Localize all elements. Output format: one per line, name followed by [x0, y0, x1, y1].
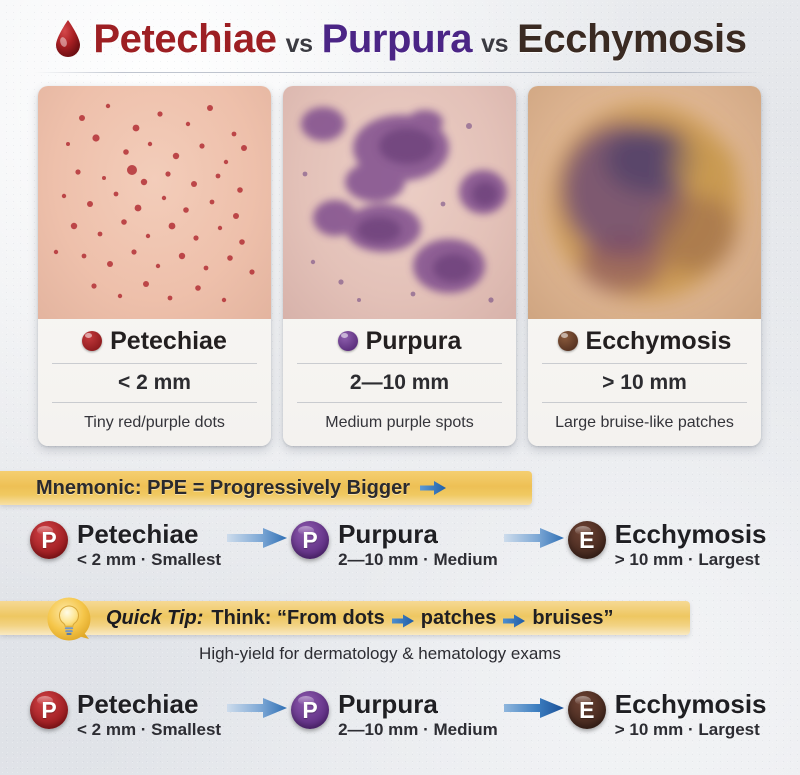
card-ecchymosis[interactable]: Ecchymosis > 10 mm Large bruise-like pat… — [528, 86, 761, 446]
brown-dot-icon — [558, 331, 578, 351]
flow-title: Petechiae — [77, 521, 221, 548]
card-title-row: Petechiae — [46, 319, 263, 363]
ecchymosis-skin-photo — [528, 86, 761, 319]
title-petechiae: Petechiae — [93, 17, 276, 61]
flow-sub: < 2 mm · Smallest — [77, 721, 221, 739]
flow-row-top: P Petechiae < 2 mm · Smallest P Purpura … — [0, 516, 800, 574]
quick-tip-mid: patches — [421, 607, 497, 630]
card-desc-label: Medium purple spots — [291, 403, 508, 443]
quick-tip-label: Quick Tip: — [106, 607, 203, 630]
flow-sub: < 2 mm · Smallest — [77, 551, 221, 569]
flow-node-ecchymosis[interactable]: E Ecchymosis > 10 mm · Largest — [568, 521, 767, 568]
quick-tip-banner: Quick Tip: Think: “From dots patches bru… — [0, 601, 690, 635]
badge-p-icon: P — [291, 521, 329, 559]
flow-title: Ecchymosis — [615, 521, 767, 548]
red-dot-icon — [82, 331, 102, 351]
quick-tip-lead: Think: “From dots — [211, 607, 384, 630]
card-desc-label: Tiny red/purple dots — [46, 403, 263, 443]
badge-p-icon: P — [291, 691, 329, 729]
flow-sub: > 10 mm · Largest — [615, 721, 767, 739]
card-title-row: Purpura — [291, 319, 508, 363]
flow-node-ecchymosis[interactable]: E Ecchymosis > 10 mm · Largest — [568, 691, 767, 738]
card-purpura[interactable]: Purpura 2—10 mm Medium purple spots — [283, 86, 516, 446]
right-arrow-icon — [392, 611, 414, 625]
badge-p-icon: P — [30, 521, 68, 559]
flow-node-purpura[interactable]: P Purpura 2—10 mm · Medium — [291, 521, 498, 568]
blood-drop-icon — [53, 19, 83, 59]
title-divider — [34, 72, 766, 73]
card-desc-label: Large bruise-like patches — [536, 403, 753, 443]
card-name-label: Petechiae — [110, 327, 227, 356]
flow-row-bottom: P Petechiae < 2 mm · Smallest P Purpura … — [0, 686, 800, 744]
card-size-label: 2—10 mm — [291, 364, 508, 402]
mnemonic-banner: Mnemonic: PPE = Progressively Bigger — [0, 471, 532, 505]
infographic-page: PetechiaevsPurpuravsEcchymosis — [0, 0, 800, 775]
card-size-label: < 2 mm — [46, 364, 263, 402]
card-name-label: Ecchymosis — [586, 327, 732, 356]
right-arrow-icon — [227, 697, 287, 719]
purple-dot-icon — [338, 331, 358, 351]
quick-tip-end: bruises” — [532, 607, 613, 630]
right-arrow-icon — [227, 527, 287, 549]
card-title-row: Ecchymosis — [536, 319, 753, 363]
title-ecchymosis: Ecchymosis — [517, 17, 746, 61]
flow-sub: > 10 mm · Largest — [615, 551, 767, 569]
quick-tip-subtext: High-yield for dermatology & hematology … — [0, 644, 760, 664]
petechiae-skin-photo — [38, 86, 271, 319]
flow-title: Ecchymosis — [615, 691, 767, 718]
lightbulb-icon — [46, 596, 92, 642]
right-arrow-icon — [504, 527, 564, 549]
card-name-label: Purpura — [366, 327, 462, 356]
flow-title: Purpura — [338, 521, 498, 548]
badge-p-icon: P — [30, 691, 68, 729]
flow-node-purpura[interactable]: P Purpura 2—10 mm · Medium — [291, 691, 498, 738]
title-text: PetechiaevsPurpuravsEcchymosis — [93, 17, 746, 62]
page-title: PetechiaevsPurpuravsEcchymosis — [0, 8, 800, 70]
card-petechiae[interactable]: Petechiae < 2 mm Tiny red/purple dots — [38, 86, 271, 446]
purpura-skin-photo — [283, 86, 516, 319]
title-vs-1: vs — [286, 30, 313, 58]
card-size-label: > 10 mm — [536, 364, 753, 402]
badge-e-icon: E — [568, 521, 606, 559]
flow-node-petechiae[interactable]: P Petechiae < 2 mm · Smallest — [30, 521, 221, 568]
comparison-cards: Petechiae < 2 mm Tiny red/purple dots — [38, 86, 762, 446]
badge-e-icon: E — [568, 691, 606, 729]
flow-node-petechiae[interactable]: P Petechiae < 2 mm · Smallest — [30, 691, 221, 738]
quick-tip-text: Quick Tip: Think: “From dots patches bru… — [106, 607, 614, 630]
right-arrow-icon — [503, 611, 525, 625]
mnemonic-text: Mnemonic: PPE = Progressively Bigger — [36, 477, 410, 500]
flow-sub: 2—10 mm · Medium — [338, 551, 498, 569]
title-purpura: Purpura — [322, 17, 473, 61]
flow-sub: 2—10 mm · Medium — [338, 721, 498, 739]
right-arrow-icon — [504, 697, 564, 719]
right-arrow-icon — [420, 480, 446, 496]
title-vs-2: vs — [481, 30, 508, 58]
flow-title: Purpura — [338, 691, 498, 718]
flow-title: Petechiae — [77, 691, 221, 718]
